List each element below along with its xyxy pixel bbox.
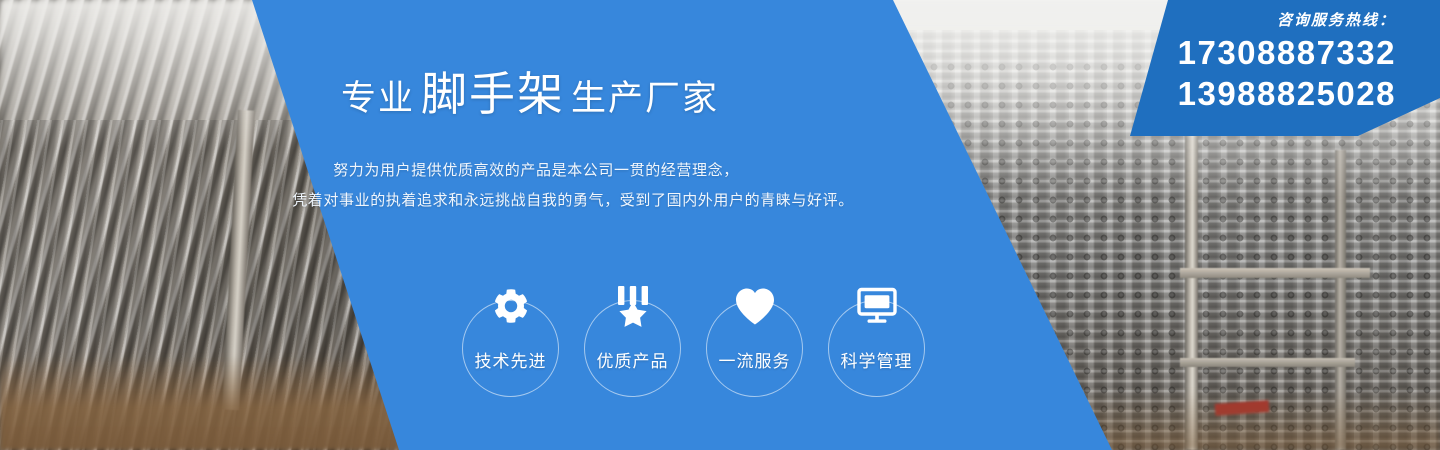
hotline-number-1[interactable]: 17308887332 — [1056, 32, 1396, 73]
subtitle: 努力为用户提供优质高效的产品是本公司一贯的经营理念， 凭着对事业的执着追求和永远… — [0, 156, 1060, 216]
subtitle-line-2: 凭着对事业的执着追求和永远挑战自我的勇气，受到了国内外用户的青睐与好评。 — [0, 186, 1060, 216]
heart-icon — [733, 284, 777, 328]
scaffold-rail-upper — [1180, 268, 1370, 278]
subtitle-line-1: 努力为用户提供优质高效的产品是本公司一贯的经营理念， — [0, 156, 1060, 186]
headline: 专业脚手架生产厂家 — [0, 58, 1060, 124]
promo-banner: 专业脚手架生产厂家 努力为用户提供优质高效的产品是本公司一贯的经营理念， 凭着对… — [0, 0, 1440, 450]
headline-part-2: 脚手架 — [421, 68, 565, 120]
feature-label: 科学管理 — [829, 347, 924, 372]
feature-item-management[interactable]: 科学管理 — [828, 300, 925, 397]
feature-item-service[interactable]: 一流服务 — [706, 300, 803, 397]
gear-icon — [489, 284, 533, 328]
headline-part-1: 专业 — [341, 79, 415, 118]
feature-label: 技术先进 — [463, 347, 558, 372]
headline-part-3: 生产厂家 — [571, 79, 719, 118]
feature-label: 优质产品 — [585, 347, 680, 372]
medal-icon — [611, 284, 655, 328]
feature-list: 技术先进 优质产品 — [462, 300, 925, 397]
monitor-icon — [855, 284, 899, 328]
hotline-label: 咨询服务热线： — [1056, 10, 1396, 32]
feature-label: 一流服务 — [707, 347, 802, 372]
hotline-number-2[interactable]: 13988825028 — [1056, 73, 1396, 114]
banner-content: 专业脚手架生产厂家 努力为用户提供优质高效的产品是本公司一贯的经营理念， 凭着对… — [0, 0, 1060, 450]
feature-item-quality[interactable]: 优质产品 — [584, 300, 681, 397]
scaffold-rail-lower — [1180, 358, 1355, 367]
hotline-content: 咨询服务热线： 17308887332 13988825028 — [1056, 10, 1396, 114]
feature-item-technology[interactable]: 技术先进 — [462, 300, 559, 397]
